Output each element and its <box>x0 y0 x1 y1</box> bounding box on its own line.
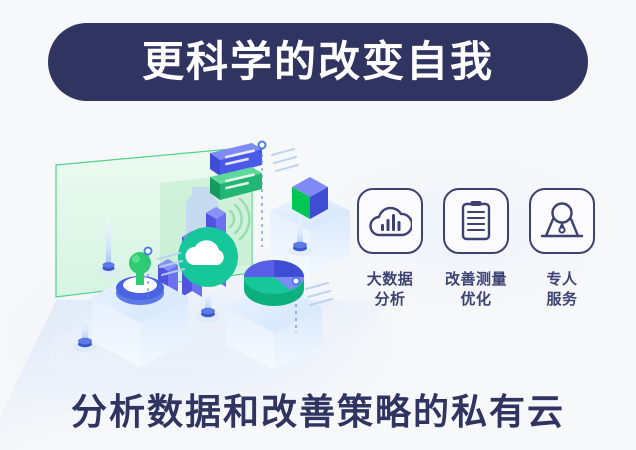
clipboard-icon <box>443 188 509 254</box>
person-service-icon <box>529 188 595 254</box>
cloud-badge <box>178 227 238 287</box>
feature-label: 专人 服务 <box>546 270 577 311</box>
feature-label: 大数据 分析 <box>367 270 414 311</box>
isometric-data-platform-illustration <box>40 125 360 370</box>
feature-item-big-data[interactable]: 大数据 分析 <box>352 188 428 330</box>
feature-item-measurement[interactable]: 改善测量 优化 <box>438 188 514 330</box>
poster-canvas: 更科学的改变自我 大数据 分析 <box>0 0 636 450</box>
cloud-bar-chart-icon <box>357 188 423 254</box>
feature-item-service[interactable]: 专人 服务 <box>524 188 600 330</box>
page-tagline: 分析数据和改善策略的私有云 <box>0 383 636 435</box>
feature-label: 改善测量 优化 <box>445 270 507 311</box>
page-title: 更科学的改变自我 <box>142 41 494 83</box>
feature-list: 大数据 分析 改善测量 优化 <box>352 188 600 330</box>
title-banner: 更科学的改变自我 <box>48 23 588 101</box>
